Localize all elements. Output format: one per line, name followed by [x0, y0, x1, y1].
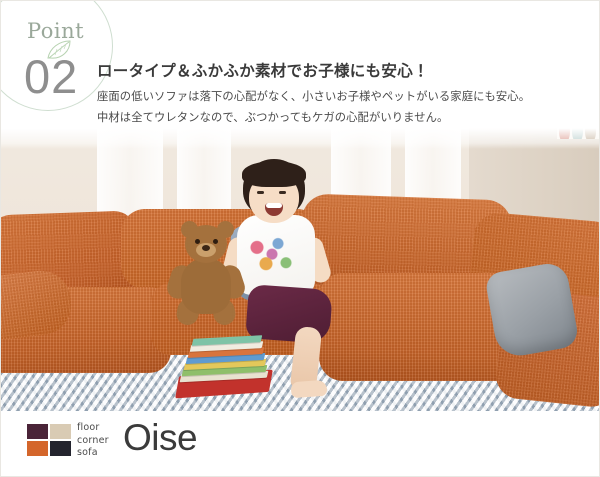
swatch-beige [50, 424, 71, 439]
child-eye-right [279, 191, 286, 194]
swatch-navy [50, 441, 71, 456]
point-header-text: ロータイプ＆ふかふか素材でお子様にも安心！ 座面の低いソファは落下の心配がなく、… [97, 63, 567, 130]
bear-nose [202, 245, 210, 251]
bear-body [181, 258, 231, 314]
wall-art-motif [572, 62, 583, 83]
brand-descriptor-line-1: floor [77, 422, 109, 435]
teddy-bear [169, 225, 245, 329]
wall-art-motif [572, 42, 583, 63]
gray-cushion [484, 261, 580, 360]
bear-eye-left [195, 239, 200, 244]
point-number: 02 [24, 53, 78, 100]
point-body-line-1: 座面の低いソファは落下の心配がなく、小さいお子様やペットがいる家庭にも安心。 [97, 89, 567, 107]
brand-descriptor-line-2: corner [77, 435, 109, 448]
child-hair-fringe [242, 161, 306, 187]
wall-art-motif [572, 122, 583, 139]
child-shirt-print [247, 233, 297, 281]
wall-art-motif [585, 62, 596, 83]
wall-art-motif [585, 102, 596, 123]
brand-descriptor: floor corner sofa [77, 422, 109, 460]
brand-name: Oise [123, 419, 197, 456]
fabric-swatch-grid [27, 424, 71, 456]
brand-descriptor-line-3: sofa [77, 447, 109, 460]
point-body-line-2: 中材は全てウレタンなので、ぶつかってもケガの心配がいりません。 [97, 110, 567, 128]
swatch-purple [27, 424, 48, 439]
point-headline: ロータイプ＆ふかふか素材でお子様にも安心！ [97, 63, 567, 80]
wall-art-motif [559, 42, 570, 63]
child-eye-left [257, 191, 264, 194]
wall-art-motif [572, 102, 583, 123]
wall-art-motif [585, 42, 596, 63]
bear-eye-right [213, 239, 218, 244]
child-foot [290, 380, 327, 398]
swatch-orange [27, 441, 48, 456]
wall-art-motif [585, 82, 596, 103]
wall-art-motif [585, 122, 596, 139]
product-point-panel: Point 02 ロータイプ＆ふかふか素材でお子様にも安心！ 座面の低いソファは… [0, 0, 600, 477]
wall-art-motif [572, 82, 583, 103]
